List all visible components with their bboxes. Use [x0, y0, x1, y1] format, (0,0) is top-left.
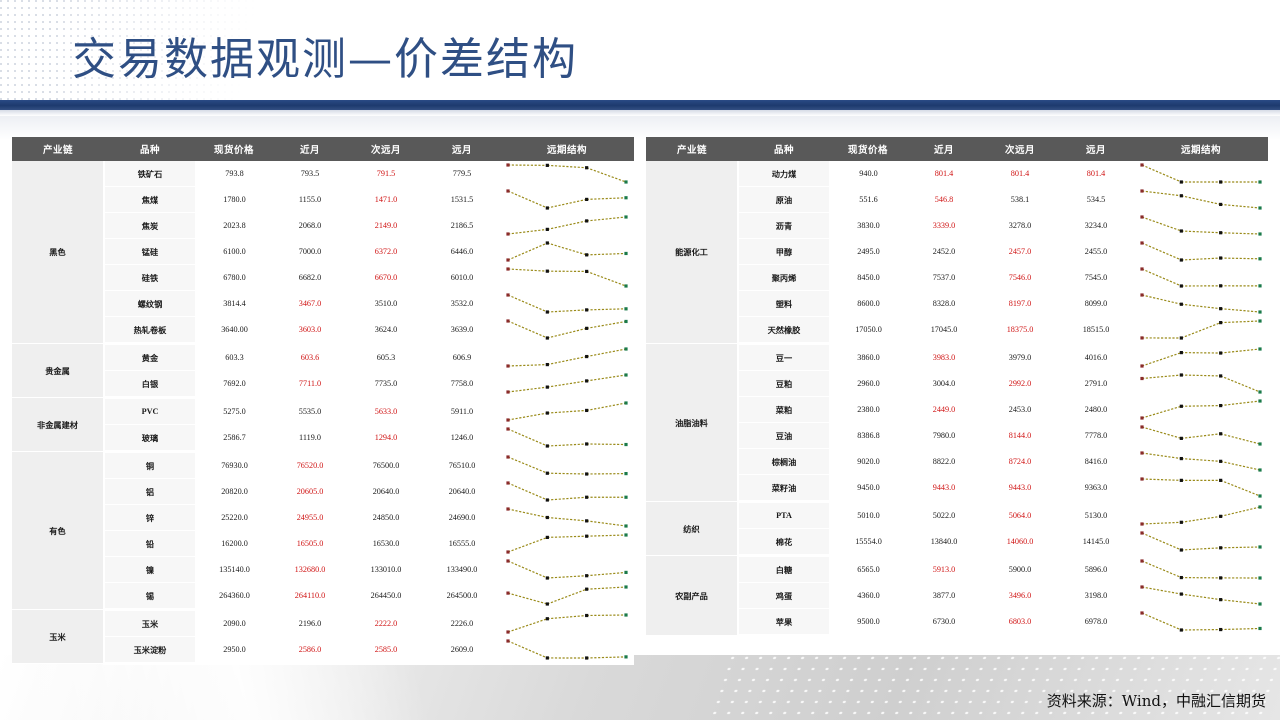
next-far-month-cell: 2149.0: [348, 213, 424, 239]
forward-curve-cell: [1134, 187, 1268, 213]
forward-curve-sparkline: [1134, 609, 1268, 634]
spot-price-cell: 264360.0: [196, 583, 272, 610]
variety-name-cell: 菜籽油: [738, 475, 830, 502]
sparkline-point: [546, 164, 549, 167]
forward-curve-cell: [500, 398, 634, 425]
far-month-cell: 7758.0: [424, 371, 500, 398]
forward-curve-sparkline: [1134, 529, 1268, 554]
forward-curve-sparkline: [500, 317, 634, 342]
forward-curve-sparkline: [500, 161, 634, 186]
col-header-mid: 次远月: [982, 137, 1058, 161]
far-month-cell: 606.9: [424, 344, 500, 371]
next-far-month-cell: 6372.0: [348, 239, 424, 265]
page-title: 交易数据观测—价差结构: [72, 34, 578, 86]
table-row: 菜籽油9450.09443.09443.09363.0: [646, 475, 1268, 502]
sparkline-point: [1180, 521, 1183, 524]
sparkline-point: [585, 588, 588, 591]
forward-curve-sparkline: [1134, 265, 1268, 290]
near-month-cell: 1155.0: [272, 187, 348, 213]
sparkline-point: [506, 630, 509, 633]
sparkline-point: [1258, 284, 1261, 287]
sparkline-point: [1219, 432, 1222, 435]
variety-name-cell: 菜粕: [738, 397, 830, 423]
near-month-cell: 16505.0: [272, 531, 348, 557]
far-month-cell: 2480.0: [1058, 397, 1134, 423]
sparkline-point: [1140, 163, 1143, 166]
sparkline-point: [506, 559, 509, 562]
far-month-cell: 7778.0: [1058, 423, 1134, 449]
sparkline-point: [1180, 284, 1183, 287]
far-month-cell: 8099.0: [1058, 291, 1134, 317]
variety-name-cell: 甲醇: [738, 239, 830, 265]
sparkline-point: [624, 196, 627, 199]
forward-curve-cell: [1134, 475, 1268, 502]
near-month-cell: 3339.0: [906, 213, 982, 239]
forward-curve-cell: [500, 637, 634, 664]
variety-name-cell: 鸡蛋: [738, 583, 830, 609]
sparkline-point: [506, 507, 509, 510]
forward-curve-sparkline: [500, 505, 634, 530]
variety-name-cell: 天然橡胶: [738, 317, 830, 344]
sparkline-point: [546, 241, 549, 244]
forward-curve-cell: [1134, 161, 1268, 187]
table-row: 菜粕2380.02449.02453.02480.0: [646, 397, 1268, 423]
forward-curve-cell: [1134, 423, 1268, 449]
spot-price-cell: 9020.0: [830, 449, 906, 475]
far-month-cell: 1246.0: [424, 425, 500, 452]
forward-curve-cell: [1134, 317, 1268, 344]
sparkline-point: [1180, 180, 1183, 183]
near-month-cell: 6730.0: [906, 609, 982, 636]
next-far-month-cell: 2453.0: [982, 397, 1058, 423]
next-far-month-cell: 5064.0: [982, 502, 1058, 529]
next-far-month-cell: 9443.0: [982, 475, 1058, 502]
sparkline-point: [1180, 303, 1183, 306]
far-month-cell: 3532.0: [424, 291, 500, 317]
sparkline-point: [624, 496, 627, 499]
sparkline-point: [585, 355, 588, 358]
variety-name-cell: 铁矿石: [104, 161, 196, 187]
sparkline-point: [1180, 457, 1183, 460]
col-header-near: 近月: [906, 137, 982, 161]
variety-name-cell: 焦煤: [104, 187, 196, 213]
near-month-cell: 7980.0: [906, 423, 982, 449]
sparkline-point: [624, 347, 627, 350]
sparkline-point: [546, 444, 549, 447]
sparkline-point: [506, 427, 509, 430]
industry-chain-cell: 黑色: [12, 161, 104, 344]
forward-curve-cell: [1134, 529, 1268, 556]
next-far-month-cell: 7546.0: [982, 265, 1058, 291]
table-row: 纺织PTA5010.05022.05064.05130.0: [646, 502, 1268, 529]
sparkline-point: [585, 442, 588, 445]
next-far-month-cell: 605.3: [348, 344, 424, 371]
industry-chain-cell: 能源化工: [646, 161, 738, 344]
forward-curve-cell: [500, 610, 634, 637]
variety-name-cell: 玉米淀粉: [104, 637, 196, 664]
table-row: 镍135140.0132680.0133010.0133490.0: [12, 557, 634, 583]
next-far-month-cell: 3510.0: [348, 291, 424, 317]
spot-price-cell: 76930.0: [196, 452, 272, 479]
next-far-month-cell: 18375.0: [982, 317, 1058, 344]
next-far-month-cell: 8197.0: [982, 291, 1058, 317]
variety-name-cell: 锡: [104, 583, 196, 610]
sparkline-point: [585, 379, 588, 382]
sparkline-point: [1219, 598, 1222, 601]
sparkline-point: [624, 571, 627, 574]
sparkline-point: [546, 270, 549, 273]
far-month-cell: 264500.0: [424, 583, 500, 610]
sparkline-point: [506, 267, 509, 270]
near-month-cell: 793.5: [272, 161, 348, 187]
spot-price-cell: 2380.0: [830, 397, 906, 423]
spot-price-cell: 6100.0: [196, 239, 272, 265]
col-header-spot: 现货价格: [830, 137, 906, 161]
sparkline-point: [1140, 585, 1143, 588]
next-far-month-cell: 14060.0: [982, 529, 1058, 556]
forward-curve-cell: [500, 213, 634, 239]
sparkline-point: [1180, 548, 1183, 551]
sparkline-point: [1258, 390, 1261, 393]
sparkline-point: [1258, 627, 1261, 630]
sparkline-point: [1219, 479, 1222, 482]
industry-chain-cell: 有色: [12, 452, 104, 610]
sparkline-point: [546, 472, 549, 475]
spot-price-cell: 2950.0: [196, 637, 272, 664]
forward-curve-sparkline: [1134, 423, 1268, 448]
far-month-cell: 3234.0: [1058, 213, 1134, 239]
near-month-cell: 7000.0: [272, 239, 348, 265]
spot-price-cell: 6565.0: [830, 556, 906, 583]
forward-curve-cell: [500, 161, 634, 187]
forward-curve-cell: [1134, 583, 1268, 609]
spot-price-cell: 8450.0: [830, 265, 906, 291]
far-month-cell: 2226.0: [424, 610, 500, 637]
sparkline-point: [1258, 319, 1261, 322]
next-far-month-cell: 8724.0: [982, 449, 1058, 475]
sparkline-point: [1258, 206, 1261, 209]
sparkline-point: [624, 215, 627, 218]
sparkline-point: [546, 310, 549, 313]
sparkline-point: [1219, 546, 1222, 549]
forward-curve-cell: [500, 371, 634, 398]
next-far-month-cell: 76500.0: [348, 452, 424, 479]
sparkline-point: [1140, 364, 1143, 367]
sparkline-point: [585, 308, 588, 311]
forward-curve-cell: [1134, 239, 1268, 265]
forward-curve-sparkline: [1134, 557, 1268, 582]
far-month-cell: 16555.0: [424, 531, 500, 557]
spot-price-cell: 25220.0: [196, 505, 272, 531]
sparkline-point: [1140, 611, 1143, 614]
industry-chain-cell: 油脂油料: [646, 344, 738, 502]
variety-name-cell: 聚丙烯: [738, 265, 830, 291]
far-month-cell: 20640.0: [424, 479, 500, 505]
table-row: 锌25220.024955.024850.024690.0: [12, 505, 634, 531]
forward-curve-sparkline: [1134, 583, 1268, 608]
far-month-cell: 2791.0: [1058, 371, 1134, 397]
spot-price-cell: 4360.0: [830, 583, 906, 609]
forward-curve-cell: [500, 452, 634, 479]
spot-price-cell: 16200.0: [196, 531, 272, 557]
sparkline-point: [546, 576, 549, 579]
table-row: 热轧卷板3640.003603.03624.03639.0: [12, 317, 634, 344]
forward-curve-sparkline: [1134, 371, 1268, 396]
near-month-cell: 2068.0: [272, 213, 348, 239]
variety-name-cell: 铝: [104, 479, 196, 505]
sparkline-point: [1180, 373, 1183, 376]
table-row: 天然橡胶17050.017045.018375.018515.0: [646, 317, 1268, 344]
table-row: 塑料8600.08328.08197.08099.0: [646, 291, 1268, 317]
col-header-curve: 远期结构: [1134, 137, 1268, 161]
variety-name-cell: 玉米: [104, 610, 196, 637]
variety-name-cell: 沥青: [738, 213, 830, 239]
forward-curve-cell: [1134, 371, 1268, 397]
sparkline-point: [506, 455, 509, 458]
sparkline-point: [506, 481, 509, 484]
table-row: 有色铜76930.076520.076500.076510.0: [12, 452, 634, 479]
spot-price-cell: 5275.0: [196, 398, 272, 425]
sparkline-point: [506, 319, 509, 322]
industry-chain-cell: 玉米: [12, 610, 104, 664]
far-month-cell: 6446.0: [424, 239, 500, 265]
far-month-cell: 5896.0: [1058, 556, 1134, 583]
spot-price-cell: 8386.8: [830, 423, 906, 449]
variety-name-cell: 原油: [738, 187, 830, 213]
sparkline-point: [1180, 405, 1183, 408]
sparkline-point: [1219, 628, 1222, 631]
forward-curve-sparkline: [1134, 449, 1268, 474]
table-row: 豆油8386.87980.08144.07778.0: [646, 423, 1268, 449]
far-month-cell: 18515.0: [1058, 317, 1134, 344]
forward-curve-sparkline: [500, 345, 634, 370]
spot-price-cell: 2586.7: [196, 425, 272, 452]
sparkline-point: [624, 320, 627, 323]
table-row: 能源化工动力煤940.0801.4801.4801.4: [646, 161, 1268, 187]
sparkline-point: [506, 418, 509, 421]
variety-name-cell: PTA: [738, 502, 830, 529]
spot-price-cell: 551.6: [830, 187, 906, 213]
next-far-month-cell: 538.1: [982, 187, 1058, 213]
col-header-mid: 次远月: [348, 137, 424, 161]
next-far-month-cell: 24850.0: [348, 505, 424, 531]
sparkline-point: [624, 307, 627, 310]
next-far-month-cell: 791.5: [348, 161, 424, 187]
sparkline-point: [1180, 592, 1183, 595]
far-month-cell: 1531.5: [424, 187, 500, 213]
forward-curve-sparkline: [1134, 503, 1268, 528]
sparkline-point: [624, 443, 627, 446]
forward-curve-cell: [500, 531, 634, 557]
forward-curve-sparkline: [500, 291, 634, 316]
table-row: 聚丙烯8450.07537.07546.07545.0: [646, 265, 1268, 291]
near-month-cell: 3877.0: [906, 583, 982, 609]
sparkline-point: [585, 327, 588, 330]
forward-curve-sparkline: [1134, 345, 1268, 370]
near-month-cell: 5913.0: [906, 556, 982, 583]
sparkline-point: [546, 656, 549, 659]
next-far-month-cell: 3979.0: [982, 344, 1058, 371]
far-month-cell: 76510.0: [424, 452, 500, 479]
sparkline-point: [546, 206, 549, 209]
variety-name-cell: 塑料: [738, 291, 830, 317]
next-far-month-cell: 2222.0: [348, 610, 424, 637]
next-far-month-cell: 801.4: [982, 161, 1058, 187]
forward-curve-sparkline: [1134, 475, 1268, 500]
far-month-cell: 8416.0: [1058, 449, 1134, 475]
spot-price-cell: 3814.4: [196, 291, 272, 317]
forward-curve-sparkline: [500, 399, 634, 424]
sparkline-point: [1258, 494, 1261, 497]
variety-name-cell: 锌: [104, 505, 196, 531]
forward-curve-sparkline: [1134, 213, 1268, 238]
sparkline-point: [546, 228, 549, 231]
near-month-cell: 76520.0: [272, 452, 348, 479]
price-structure-table-left: 产业链 品种 现货价格 近月 次远月 远月 远期结构 黑色铁矿石793.8793…: [12, 137, 634, 665]
far-month-cell: 24690.0: [424, 505, 500, 531]
sparkline-point: [1140, 189, 1143, 192]
variety-name-cell: 硅铁: [104, 265, 196, 291]
left-table-container: 产业链 品种 现货价格 近月 次远月 远月 远期结构 黑色铁矿石793.8793…: [12, 137, 634, 665]
variety-name-cell: 铜: [104, 452, 196, 479]
forward-curve-sparkline: [500, 371, 634, 396]
spot-price-cell: 603.3: [196, 344, 272, 371]
next-far-month-cell: 2457.0: [982, 239, 1058, 265]
sparkline-point: [624, 252, 627, 255]
sparkline-point: [506, 163, 509, 166]
table-row: 甲醇2495.02452.02457.02455.0: [646, 239, 1268, 265]
forward-curve-cell: [500, 291, 634, 317]
near-month-cell: 13840.0: [906, 529, 982, 556]
spot-price-cell: 2960.0: [830, 371, 906, 397]
sparkline-point: [624, 655, 627, 658]
sparkline-point: [1219, 307, 1222, 310]
sparkline-point: [585, 614, 588, 617]
variety-name-cell: 焦炭: [104, 213, 196, 239]
forward-curve-cell: [500, 557, 634, 583]
variety-name-cell: 黄金: [104, 344, 196, 371]
spot-price-cell: 7692.0: [196, 371, 272, 398]
sparkline-point: [585, 519, 588, 522]
sparkline-point: [585, 198, 588, 201]
col-header-far: 远月: [424, 137, 500, 161]
variety-name-cell: 动力煤: [738, 161, 830, 187]
variety-name-cell: 铅: [104, 531, 196, 557]
sparkline-point: [546, 386, 549, 389]
sparkline-point: [1258, 545, 1261, 548]
near-month-cell: 2586.0: [272, 637, 348, 664]
variety-name-cell: PVC: [104, 398, 196, 425]
variety-name-cell: 镍: [104, 557, 196, 583]
forward-curve-cell: [500, 317, 634, 344]
table-row: 油脂油料豆一3860.03983.03979.04016.0: [646, 344, 1268, 371]
near-month-cell: 2196.0: [272, 610, 348, 637]
table-header-row: 产业链 品种 现货价格 近月 次远月 远月 远期结构: [12, 137, 634, 161]
table-row: 锰硅6100.07000.06372.06446.0: [12, 239, 634, 265]
variety-name-cell: 豆粕: [738, 371, 830, 397]
forward-curve-sparkline: [500, 239, 634, 264]
forward-curve-cell: [500, 479, 634, 505]
sparkline-point: [1140, 477, 1143, 480]
sparkline-point: [546, 516, 549, 519]
col-header-far: 远月: [1058, 137, 1134, 161]
sparkline-point: [1180, 437, 1183, 440]
table-row: 玉米淀粉2950.02586.02585.02609.0: [12, 637, 634, 664]
source-note: 资料来源：Wind，中融汇信期货: [1047, 690, 1266, 711]
far-month-cell: 7545.0: [1058, 265, 1134, 291]
left-table-body: 黑色铁矿石793.8793.5791.5779.5焦煤1780.01155.01…: [12, 161, 634, 664]
forward-curve-sparkline: [500, 611, 634, 636]
spot-price-cell: 5010.0: [830, 502, 906, 529]
near-month-cell: 801.4: [906, 161, 982, 187]
next-far-month-cell: 3624.0: [348, 317, 424, 344]
slide-canvas: 交易数据观测—价差结构 产业链 品种 现货价格 近月 次远月 远月 远期结构 黑…: [0, 0, 1280, 720]
forward-curve-sparkline: [500, 213, 634, 238]
near-month-cell: 1119.0: [272, 425, 348, 452]
table-row: 贵金属黄金603.3603.6605.3606.9: [12, 344, 634, 371]
variety-name-cell: 豆一: [738, 344, 830, 371]
col-header-variety: 品种: [738, 137, 830, 161]
forward-curve-cell: [500, 425, 634, 452]
sparkline-point: [585, 656, 588, 659]
forward-curve-sparkline: [500, 479, 634, 504]
forward-curve-cell: [1134, 291, 1268, 317]
sparkline-point: [624, 284, 627, 287]
table-row: 玻璃2586.71119.01294.01246.0: [12, 425, 634, 452]
next-far-month-cell: 2992.0: [982, 371, 1058, 397]
sparkline-point: [1219, 180, 1222, 183]
sparkline-point: [1258, 468, 1261, 471]
near-month-cell: 5022.0: [906, 502, 982, 529]
variety-name-cell: 白糖: [738, 556, 830, 583]
col-header-chain: 产业链: [646, 137, 738, 161]
sparkline-point: [1258, 347, 1261, 350]
sparkline-point: [1140, 425, 1143, 428]
forward-curve-sparkline: [500, 531, 634, 556]
forward-curve-sparkline: [500, 265, 634, 290]
spot-price-cell: 8600.0: [830, 291, 906, 317]
sparkline-point: [1219, 351, 1222, 354]
variety-name-cell: 苹果: [738, 609, 830, 636]
spot-price-cell: 793.8: [196, 161, 272, 187]
sparkline-point: [585, 574, 588, 577]
sparkline-point: [1140, 416, 1143, 419]
table-row: 棉花15554.013840.014060.014145.0: [646, 529, 1268, 556]
near-month-cell: 603.6: [272, 344, 348, 371]
sparkline-point: [1219, 515, 1222, 518]
sparkline-point: [585, 219, 588, 222]
price-structure-table-right: 产业链 品种 现货价格 近月 次远月 远月 远期结构 能源化工动力煤940.08…: [646, 137, 1268, 637]
variety-name-cell: 棕榈油: [738, 449, 830, 475]
table-row: 鸡蛋4360.03877.03496.03198.0: [646, 583, 1268, 609]
far-month-cell: 9363.0: [1058, 475, 1134, 502]
near-month-cell: 24955.0: [272, 505, 348, 531]
sparkline-point: [624, 373, 627, 376]
sparkline-point: [546, 536, 549, 539]
forward-curve-sparkline: [1134, 317, 1268, 342]
sparkline-point: [506, 592, 509, 595]
variety-name-cell: 玻璃: [104, 425, 196, 452]
sparkline-point: [1140, 293, 1143, 296]
far-month-cell: 2186.5: [424, 213, 500, 239]
forward-curve-sparkline: [1134, 187, 1268, 212]
table-row: 硅铁6780.06682.06670.06010.0: [12, 265, 634, 291]
near-month-cell: 546.8: [906, 187, 982, 213]
far-month-cell: 5130.0: [1058, 502, 1134, 529]
far-month-cell: 3639.0: [424, 317, 500, 344]
forward-curve-cell: [1134, 556, 1268, 583]
sparkline-point: [546, 336, 549, 339]
